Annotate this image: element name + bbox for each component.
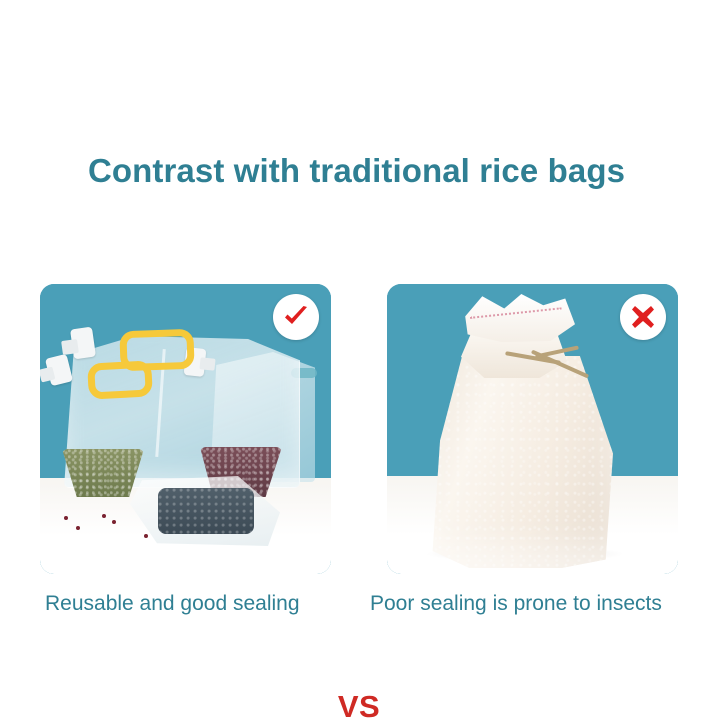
spilled-bean — [102, 514, 106, 518]
spout-neck — [199, 357, 215, 371]
comparison-row: VS — [0, 284, 713, 574]
status-badge-cross — [620, 294, 666, 340]
comparison-panel-reusable-bag[interactable] — [40, 284, 331, 574]
spout-neck — [61, 339, 79, 355]
spilled-bean — [64, 516, 68, 520]
page-title: Contrast with traditional rice bags — [0, 152, 713, 190]
caption-traditional-sack: Poor sealing is prone to insects — [370, 592, 662, 616]
twine-strand — [535, 345, 579, 358]
spilled-bean — [76, 526, 80, 530]
carry-handle — [87, 360, 153, 399]
status-badge-check — [273, 294, 319, 340]
cross-icon — [629, 303, 657, 331]
spilled-bean — [112, 520, 116, 524]
caption-reusable-bag: Reusable and good sealing — [45, 592, 300, 616]
green-beans — [62, 449, 144, 497]
comparison-panel-traditional-sack[interactable] — [387, 284, 678, 574]
twine-tie — [505, 346, 597, 394]
spilled-bean — [144, 534, 148, 538]
check-icon — [281, 302, 311, 332]
black-beans — [158, 488, 254, 534]
versus-label: VS — [331, 689, 387, 725]
